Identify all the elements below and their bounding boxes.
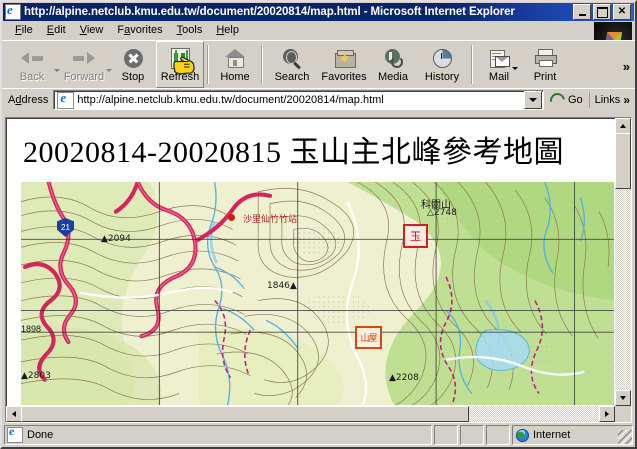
stop-button[interactable]: Stop	[110, 41, 156, 88]
status-slot-2	[460, 425, 484, 445]
ie-page-icon	[57, 92, 74, 109]
links-label: Links	[595, 94, 621, 106]
status-message: Done	[27, 429, 53, 441]
toolbar-separator	[471, 45, 473, 84]
map-label-peak-2748: △2748	[427, 208, 457, 218]
vertical-scroll-thumb[interactable]	[615, 133, 631, 189]
go-label: Go	[568, 94, 583, 106]
print-icon	[535, 46, 555, 70]
refresh-button[interactable]: Refresh	[156, 41, 204, 88]
document-viewport: 20020814-20020815 玉山主北峰參考地圖	[7, 119, 614, 405]
chevron-down-icon	[529, 98, 537, 102]
map-label-peak-1846: 1846▲	[267, 281, 297, 291]
toolbar-overflow-icon[interactable]: »	[623, 59, 630, 74]
mail-icon	[490, 46, 509, 70]
map-label-peak-2094: ▲2094	[101, 234, 131, 244]
minimize-button[interactable]	[573, 4, 591, 20]
status-slot-3	[486, 425, 510, 445]
history-icon	[433, 46, 452, 70]
back-arrow-icon	[21, 46, 43, 70]
back-button[interactable]: Back	[6, 41, 58, 88]
home-button[interactable]: Home	[212, 41, 258, 88]
security-zone-label: Internet	[533, 429, 570, 441]
triangle-down-icon	[620, 396, 626, 400]
status-message-panel: Done	[4, 425, 432, 445]
go-button[interactable]: Go	[544, 93, 589, 108]
forward-arrow-icon	[73, 46, 95, 70]
scroll-right-button[interactable]	[599, 406, 615, 422]
triangle-up-icon	[620, 124, 626, 128]
search-icon	[283, 46, 302, 70]
map-label-station: 沙里仙竹竹站	[243, 212, 297, 225]
address-input[interactable]: http://alpine.netclub.kmu.edu.tw/documen…	[53, 90, 544, 110]
menu-item-view[interactable]: View	[73, 23, 111, 37]
print-button[interactable]: Print	[522, 41, 568, 88]
security-zone-panel[interactable]: Internet	[512, 425, 633, 445]
mail-dropdown-icon[interactable]	[512, 67, 518, 70]
status-slot-1	[434, 425, 458, 445]
menu-item-favorites[interactable]: Favorites	[110, 23, 169, 37]
address-label: Address	[4, 94, 53, 106]
address-url-text: http://alpine.netclub.kmu.edu.tw/documen…	[77, 94, 524, 106]
history-button[interactable]: History	[416, 41, 468, 88]
address-dropdown-button[interactable]	[524, 91, 542, 109]
menu-bar: File Edit View Favorites Tools Help	[2, 21, 635, 40]
scroll-down-button[interactable]	[615, 390, 631, 406]
ie-page-icon	[7, 427, 23, 443]
scroll-left-button[interactable]	[6, 406, 22, 422]
globe-icon	[516, 429, 529, 442]
map-label-peak-2208: ▲2208	[389, 373, 419, 383]
favorites-icon: ✱	[335, 46, 354, 70]
media-button[interactable]: Media	[370, 41, 416, 88]
refresh-icon	[171, 46, 190, 70]
peak-box-marker: 玉	[403, 224, 428, 248]
triangle-left-icon	[12, 411, 16, 417]
window-controls: ✕	[573, 4, 632, 20]
shelter-box-marker: 山屋	[355, 326, 382, 349]
maximize-button[interactable]	[593, 4, 611, 20]
vertical-scrollbar[interactable]	[615, 118, 631, 406]
stop-icon	[124, 46, 143, 70]
page-title: 20020814-20020815 玉山主北峰參考地圖	[7, 119, 614, 177]
toolbar-separator	[207, 45, 209, 84]
close-button[interactable]: ✕	[613, 4, 631, 20]
forward-button[interactable]: Forward	[58, 41, 110, 88]
menu-item-file[interactable]: File	[8, 23, 40, 37]
toolbar-separator	[261, 45, 263, 84]
links-button[interactable]: Links »	[589, 92, 633, 108]
status-bar: Done Internet	[4, 425, 633, 445]
address-bar: Address http://alpine.netclub.kmu.edu.tw…	[2, 88, 635, 111]
scrollbar-corner	[615, 406, 631, 422]
map-label-elev-1898: 1898	[21, 324, 41, 334]
topographic-map-image[interactable]: ▲2094 沙里仙竹竹站 1846▲ 科關山 △2748 1898 ▲2803 …	[21, 182, 614, 405]
mail-button[interactable]: Mail	[476, 41, 522, 88]
favorites-button[interactable]: ✱ Favorites	[318, 41, 370, 88]
horizontal-scrollbar[interactable]	[6, 406, 615, 422]
menu-item-help[interactable]: Help	[209, 23, 246, 37]
browser-window: http://alpine.netclub.kmu.edu.tw/documen…	[0, 0, 637, 449]
resize-grip[interactable]	[618, 430, 632, 444]
title-bar[interactable]: http://alpine.netclub.kmu.edu.tw/documen…	[3, 3, 634, 21]
waypoint-dot-marker	[228, 214, 235, 221]
ie-document-icon	[5, 4, 21, 20]
home-icon	[225, 46, 245, 70]
browser-content-area: 20020814-20020815 玉山主北峰參考地圖	[5, 117, 632, 423]
search-button[interactable]: Search	[266, 41, 318, 88]
menu-item-edit[interactable]: Edit	[40, 23, 73, 37]
media-icon	[384, 46, 403, 70]
horizontal-scroll-thumb[interactable]	[21, 406, 469, 422]
window-title: http://alpine.netclub.kmu.edu.tw/documen…	[24, 6, 573, 18]
map-canvas	[21, 182, 614, 405]
go-arrow-icon	[547, 90, 568, 111]
scroll-up-button[interactable]	[615, 118, 631, 134]
links-overflow-icon[interactable]: »	[623, 93, 630, 107]
menu-item-tools[interactable]: Tools	[170, 23, 210, 37]
main-toolbar: Back Forward Stop Refresh Home	[2, 40, 635, 88]
triangle-right-icon	[605, 411, 609, 417]
map-label-peak-2803: ▲2803	[21, 371, 51, 381]
